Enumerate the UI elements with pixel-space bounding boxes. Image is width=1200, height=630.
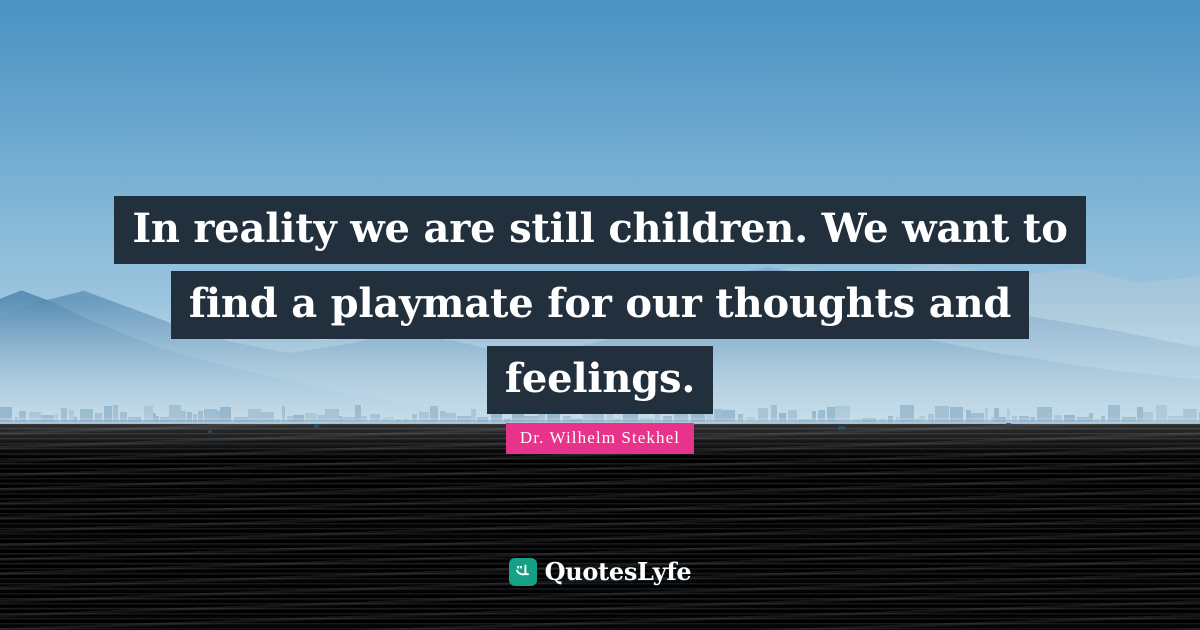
quote-line: In reality we are still children. We wan… [114, 196, 1085, 264]
author-badge: Dr. Wilhelm Stekhel [0, 423, 1200, 454]
author-name: Dr. Wilhelm Stekhel [506, 423, 694, 454]
site-logo[interactable]: QuotesLyfe [0, 557, 1200, 586]
quote-mark-smiley-icon [509, 558, 537, 586]
quote-line: find a playmate for our thoughts and [171, 271, 1029, 339]
quote-line: feelings. [487, 346, 713, 414]
quote-text-block: In reality we are still children. We wan… [0, 196, 1200, 421]
quote-card: In reality we are still children. We wan… [0, 0, 1200, 630]
site-logo-text: QuotesLyfe [545, 557, 692, 586]
